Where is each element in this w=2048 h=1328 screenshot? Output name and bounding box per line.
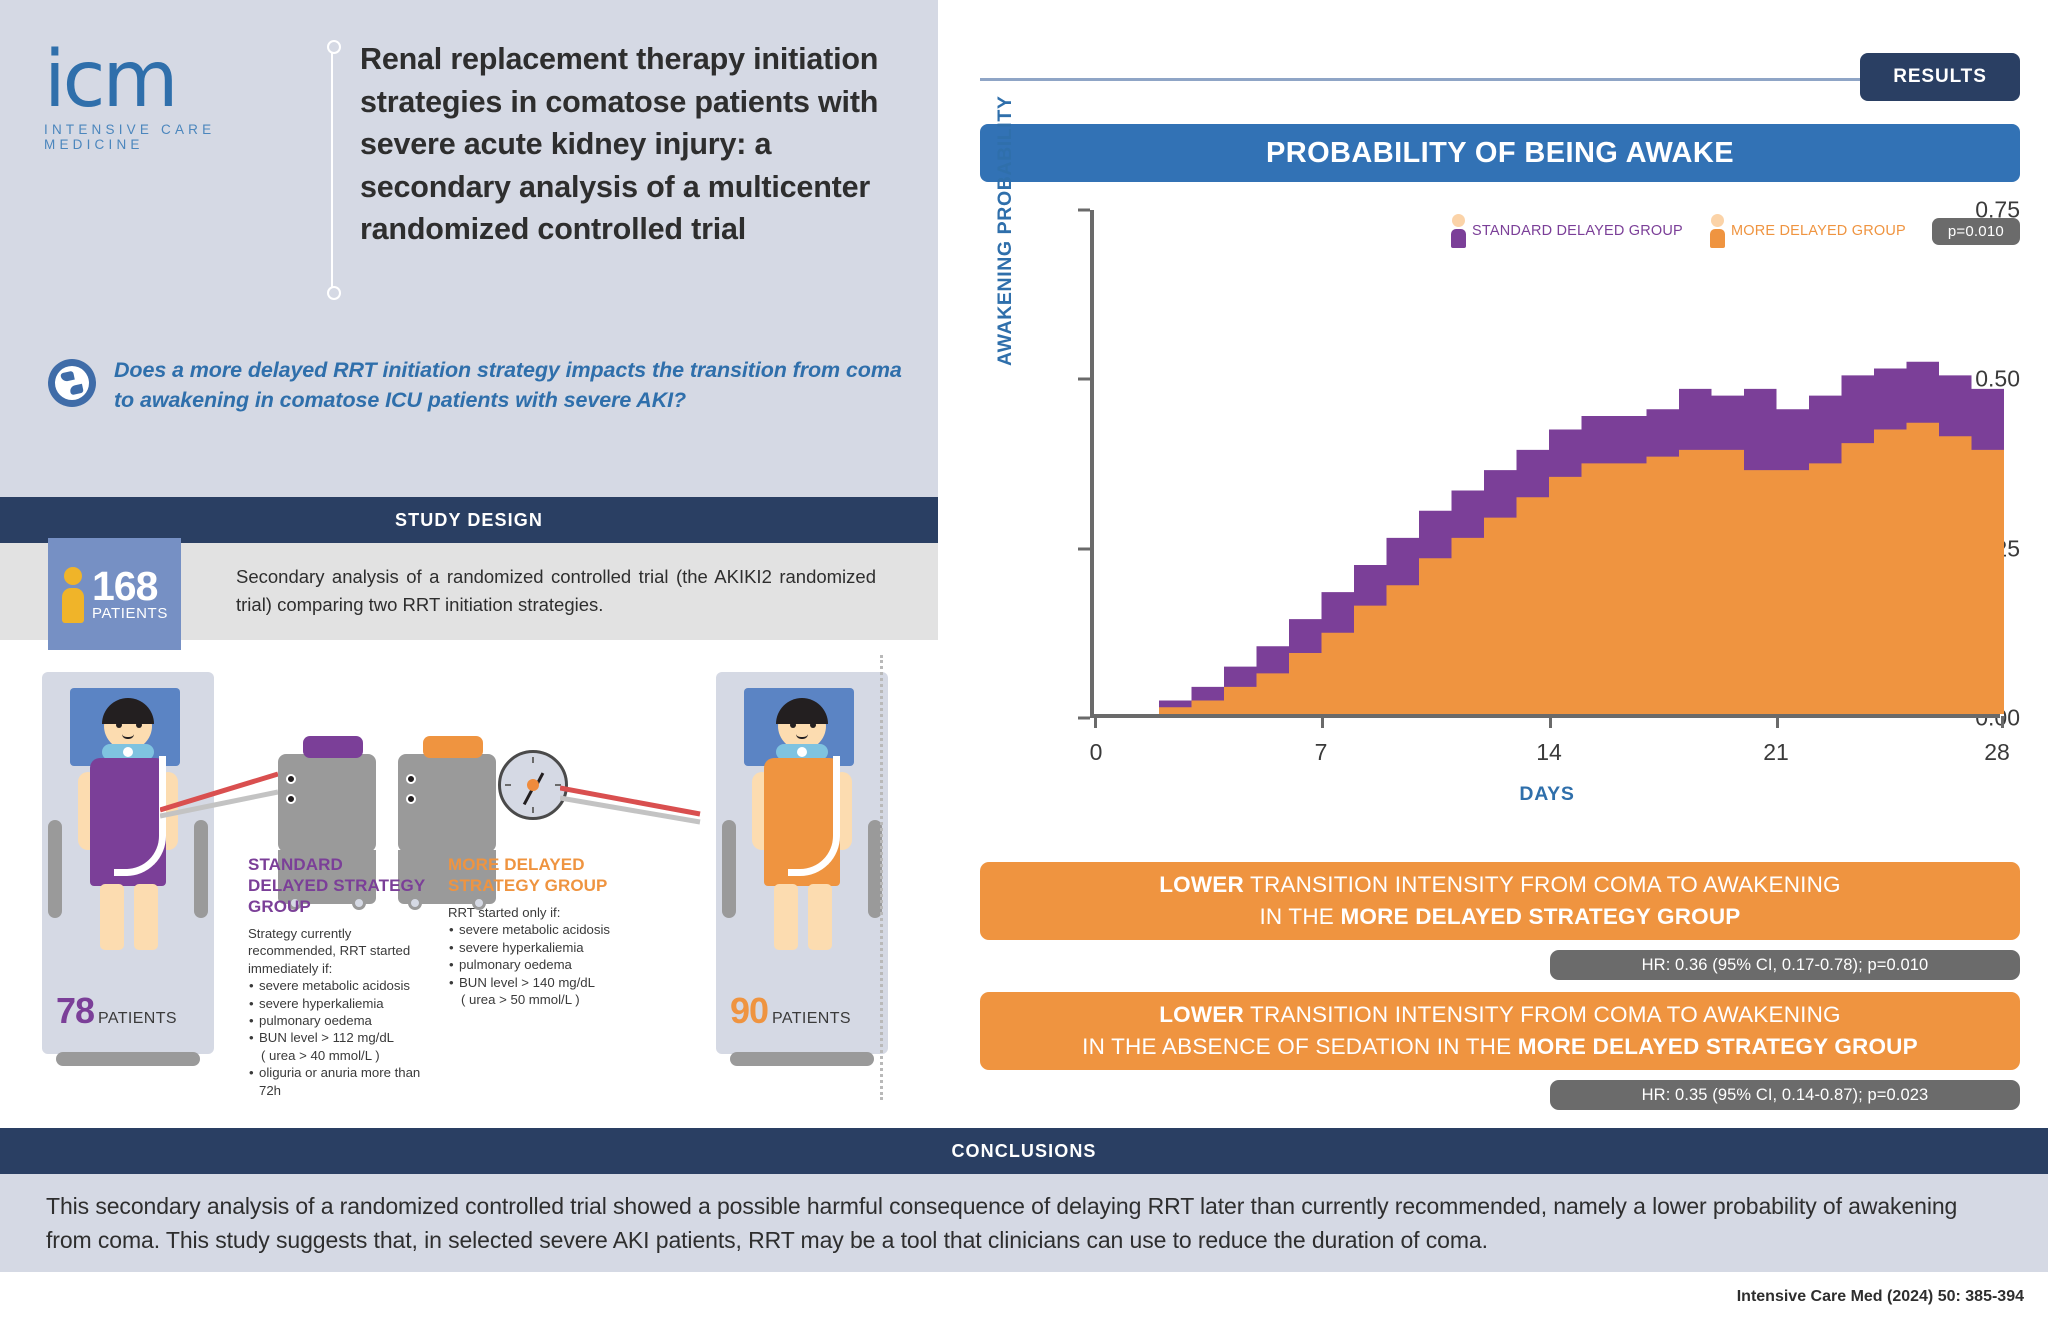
journal-citation: Intensive Care Med (2024) 50: 385-394 — [1737, 1288, 2024, 1306]
rrt-machine-more-delayed — [398, 754, 496, 852]
group-standard-delayed: STANDARD DELAYED STRATEGY GROUP Strategy… — [248, 854, 428, 1099]
visual-abstract-page: icm INTENSIVE CARE MEDICINE Renal replac… — [0, 0, 2048, 1328]
page-title: Renal replacement therapy initiation str… — [360, 38, 890, 251]
icm-logo-text: icm — [44, 40, 314, 120]
study-design-band: STUDY DESIGN — [0, 497, 938, 543]
ventilation-tube — [788, 756, 840, 876]
research-question: Does a more delayed RRT initiation strat… — [48, 355, 908, 415]
clock-icon — [498, 750, 568, 820]
research-question-text: Does a more delayed RRT initiation strat… — [114, 355, 908, 415]
conclusions-text: This secondary analysis of a randomized … — [0, 1189, 2048, 1257]
results-rule — [980, 78, 1870, 81]
result-banner-2-line1: LOWER TRANSITION INTENSITY FROM COMA TO … — [1159, 999, 1841, 1031]
patient-bed-more-delayed: 90 PATIENTS — [716, 672, 888, 1054]
x-tick-0: 0 — [1090, 739, 1103, 766]
study-design-description: Secondary analysis of a randomized contr… — [236, 563, 876, 619]
awakening-probability-chart: AWAKENING PROBABILITY 0.75 0.50 0.25 0.0… — [980, 196, 2020, 836]
chart-y-axis-label: AWAKENING PROBABILITY — [994, 96, 1017, 366]
conclusions-band: CONCLUSIONS — [0, 1128, 2048, 1174]
x-tick-7: 7 — [1315, 739, 1328, 766]
total-patients-label: PATIENTS — [92, 605, 168, 622]
vertical-dotted-divider — [880, 655, 883, 1100]
group-standard-intro: Strategy currently recommended, RRT star… — [248, 925, 428, 977]
ventilation-tube — [114, 756, 166, 876]
chart-x-axis-label: DAYS — [1094, 783, 2000, 806]
question-coma-icon — [48, 359, 96, 407]
conclusions-body: This secondary analysis of a randomized … — [0, 1174, 2048, 1272]
standard-group-patient-count: 78 PATIENTS — [56, 990, 177, 1032]
total-patients-count: 168 — [92, 567, 168, 605]
title-divider — [331, 45, 333, 295]
left-header-panel: icm INTENSIVE CARE MEDICINE Renal replac… — [0, 0, 938, 497]
hr-chip-2: HR: 0.35 (95% CI, 0.14-0.87); p=0.023 — [1550, 1080, 2020, 1110]
group-more-delayed-intro: RRT started only if: — [448, 904, 628, 921]
criterion: severe hyperkaliemia — [448, 939, 628, 956]
result-banner-1-line1: LOWER TRANSITION INTENSITY FROM COMA TO … — [1159, 869, 1841, 901]
group-standard-criteria: Strategy currently recommended, RRT star… — [248, 925, 428, 1099]
results-badge: RESULTS — [1860, 53, 2020, 101]
criterion: BUN level > 140 mg/dL — [448, 974, 628, 991]
hr-chip-1: HR: 0.36 (95% CI, 0.17-0.78); p=0.010 — [1550, 950, 2020, 980]
criterion: pulmonary oedema — [448, 956, 628, 973]
result-banner-1-line2: IN THE MORE DELAYED STRATEGY GROUP — [1259, 901, 1740, 933]
x-tick-21: 21 — [1763, 739, 1789, 766]
patient-bed-standard: 78 PATIENTS — [42, 672, 214, 1054]
criterion: BUN level > 112 mg/dL — [248, 1029, 428, 1046]
x-tick-14: 14 — [1536, 739, 1562, 766]
criterion: oliguria or anuria more than 72h — [248, 1064, 428, 1099]
person-icon — [60, 567, 86, 623]
more-delayed-group-patient-count: 90 PATIENTS — [730, 990, 851, 1032]
group-more-delayed-criteria: RRT started only if: severe metabolic ac… — [448, 904, 628, 1008]
rrt-machine-standard — [278, 754, 376, 852]
criterion: pulmonary oedema — [248, 1012, 428, 1029]
criterion-subnote: ( urea > 40 mmol/L ) — [248, 1047, 428, 1064]
result-banner-2-line2: IN THE ABSENCE OF SEDATION IN THE MORE D… — [1082, 1031, 1918, 1063]
chart-title: PROBABILITY OF BEING AWAKE — [980, 124, 2020, 182]
criterion-subnote: ( urea > 50 mmol/L ) — [448, 991, 628, 1008]
result-banner-1: LOWER TRANSITION INTENSITY FROM COMA TO … — [980, 862, 2020, 940]
icm-logo-subtitle: INTENSIVE CARE MEDICINE — [44, 122, 314, 152]
group-more-delayed-title: MORE DELAYED STRATEGY GROUP — [448, 854, 628, 896]
result-banner-2: LOWER TRANSITION INTENSITY FROM COMA TO … — [980, 992, 2020, 1070]
criterion: severe metabolic acidosis — [248, 977, 428, 994]
icm-logo: icm INTENSIVE CARE MEDICINE — [44, 40, 314, 150]
criterion: severe hyperkaliemia — [248, 995, 428, 1012]
x-tick-28: 28 — [1984, 739, 2010, 766]
group-more-delayed: MORE DELAYED STRATEGY GROUP RRT started … — [448, 854, 628, 1008]
chart-series-svg — [1094, 206, 2004, 714]
criterion: severe metabolic acidosis — [448, 921, 628, 938]
dialysis-line-right — [560, 774, 720, 834]
chart-plot-area: 0 7 14 21 28 DAYS — [1090, 210, 2000, 718]
study-illustration: 78 PATIENTS — [0, 650, 938, 1110]
group-standard-title: STANDARD DELAYED STRATEGY GROUP — [248, 854, 428, 917]
total-patients-badge: 168 PATIENTS — [48, 538, 181, 651]
results-panel: RESULTS PROBABILITY OF BEING AWAKE AWAKE… — [938, 0, 2048, 1110]
